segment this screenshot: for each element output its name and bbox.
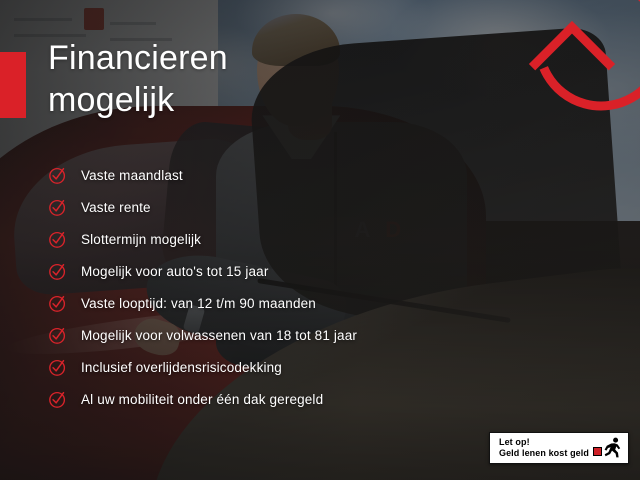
running-man-icon <box>603 437 622 458</box>
list-item: Mogelijk voor volwassenen van 18 tot 81 … <box>48 320 640 352</box>
list-item: Vaste looptijd: van 12 t/m 90 maanden <box>48 288 640 320</box>
list-item-label: Mogelijk voor auto's tot 15 jaar <box>81 264 268 279</box>
check-circle-icon <box>48 390 67 409</box>
warning-line-2: Geld lenen kost geld <box>499 448 589 459</box>
list-item: Slottermijn mogelijk <box>48 224 640 256</box>
list-item-label: Mogelijk voor volwassenen van 18 tot 81 … <box>81 328 357 343</box>
list-item-label: Slottermijn mogelijk <box>81 232 201 247</box>
check-circle-icon <box>48 198 67 217</box>
list-item: Al uw mobiliteit onder één dak geregeld <box>48 384 640 416</box>
feature-list: Vaste maandlast Vaste rente Slottermijn … <box>48 160 640 416</box>
check-circle-icon <box>48 294 67 313</box>
list-item-label: Inclusief overlijdensrisicodekking <box>81 360 282 375</box>
list-item-label: Vaste maandlast <box>81 168 183 183</box>
warning-text: Let op! Geld lenen kost geld <box>499 437 589 460</box>
warning-line-1: Let op! <box>499 437 589 448</box>
list-item: Vaste rente <box>48 192 640 224</box>
promo-slide: A D Financieren mogelijk <box>0 0 640 480</box>
list-item: Vaste maandlast <box>48 160 640 192</box>
status-badge: Let op! Geld lenen kost geld <box>489 432 629 465</box>
check-circle-icon <box>48 166 67 185</box>
list-item-label: Al uw mobiliteit onder één dak geregeld <box>81 392 323 407</box>
slide-content: Financieren mogelijk Vaste maandlast Vas… <box>48 38 640 480</box>
title-line-1: Financieren <box>48 39 228 77</box>
title-line-2: mogelijk <box>48 80 640 122</box>
check-circle-icon <box>48 358 67 377</box>
warning-artwork <box>593 437 622 458</box>
red-accent-block <box>0 52 26 118</box>
red-coin-icon <box>593 447 602 456</box>
check-circle-icon <box>48 326 67 345</box>
list-item-label: Vaste looptijd: van 12 t/m 90 maanden <box>81 296 316 311</box>
list-item: Inclusief overlijdensrisicodekking <box>48 352 640 384</box>
check-circle-icon <box>48 230 67 249</box>
page-title: Financieren mogelijk <box>48 38 640 122</box>
list-item: Mogelijk voor auto's tot 15 jaar <box>48 256 640 288</box>
check-circle-icon <box>48 262 67 281</box>
list-item-label: Vaste rente <box>81 200 151 215</box>
